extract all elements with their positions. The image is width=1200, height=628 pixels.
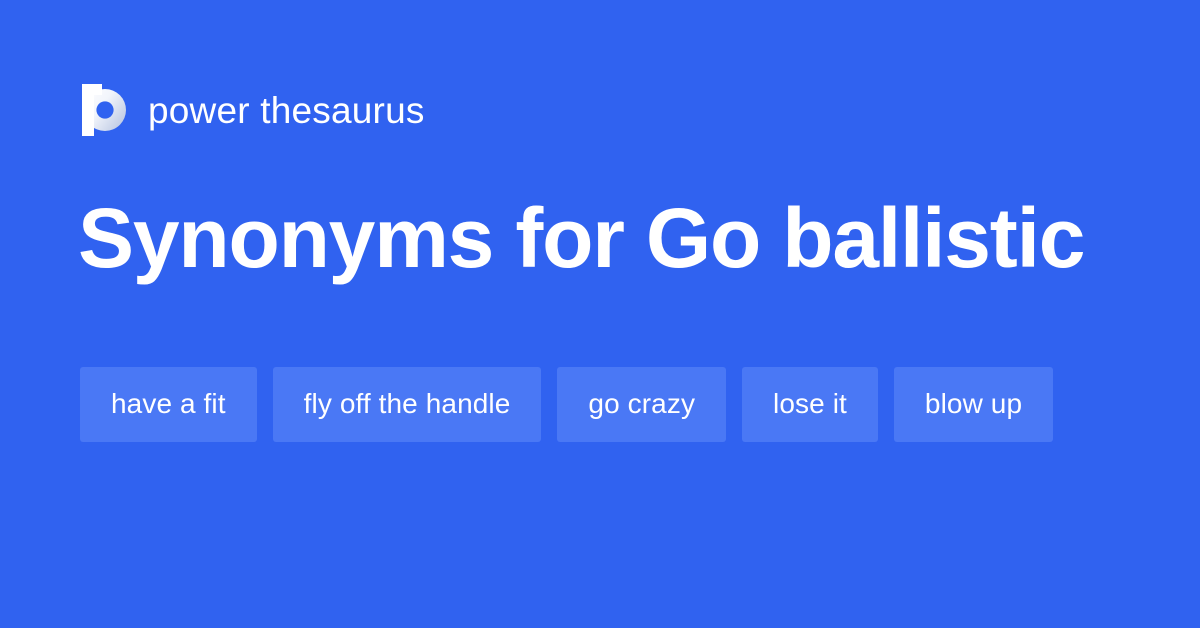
power-thesaurus-logo-icon [80, 84, 126, 136]
brand-logo[interactable]: power thesaurus [80, 80, 425, 140]
brand-name: power thesaurus [148, 92, 425, 129]
synonym-chip[interactable]: go crazy [557, 367, 726, 442]
synonym-chip[interactable]: have a fit [80, 367, 257, 442]
synonym-chip[interactable]: blow up [894, 367, 1053, 442]
synonym-chip[interactable]: fly off the handle [273, 367, 542, 442]
share-card: power thesaurus Synonyms for Go ballisti… [0, 0, 1200, 628]
synonym-chip-list: have a fit fly off the handle go crazy l… [80, 367, 1120, 442]
synonym-chip[interactable]: lose it [742, 367, 878, 442]
page-title: Synonyms for Go ballistic [78, 196, 1138, 280]
